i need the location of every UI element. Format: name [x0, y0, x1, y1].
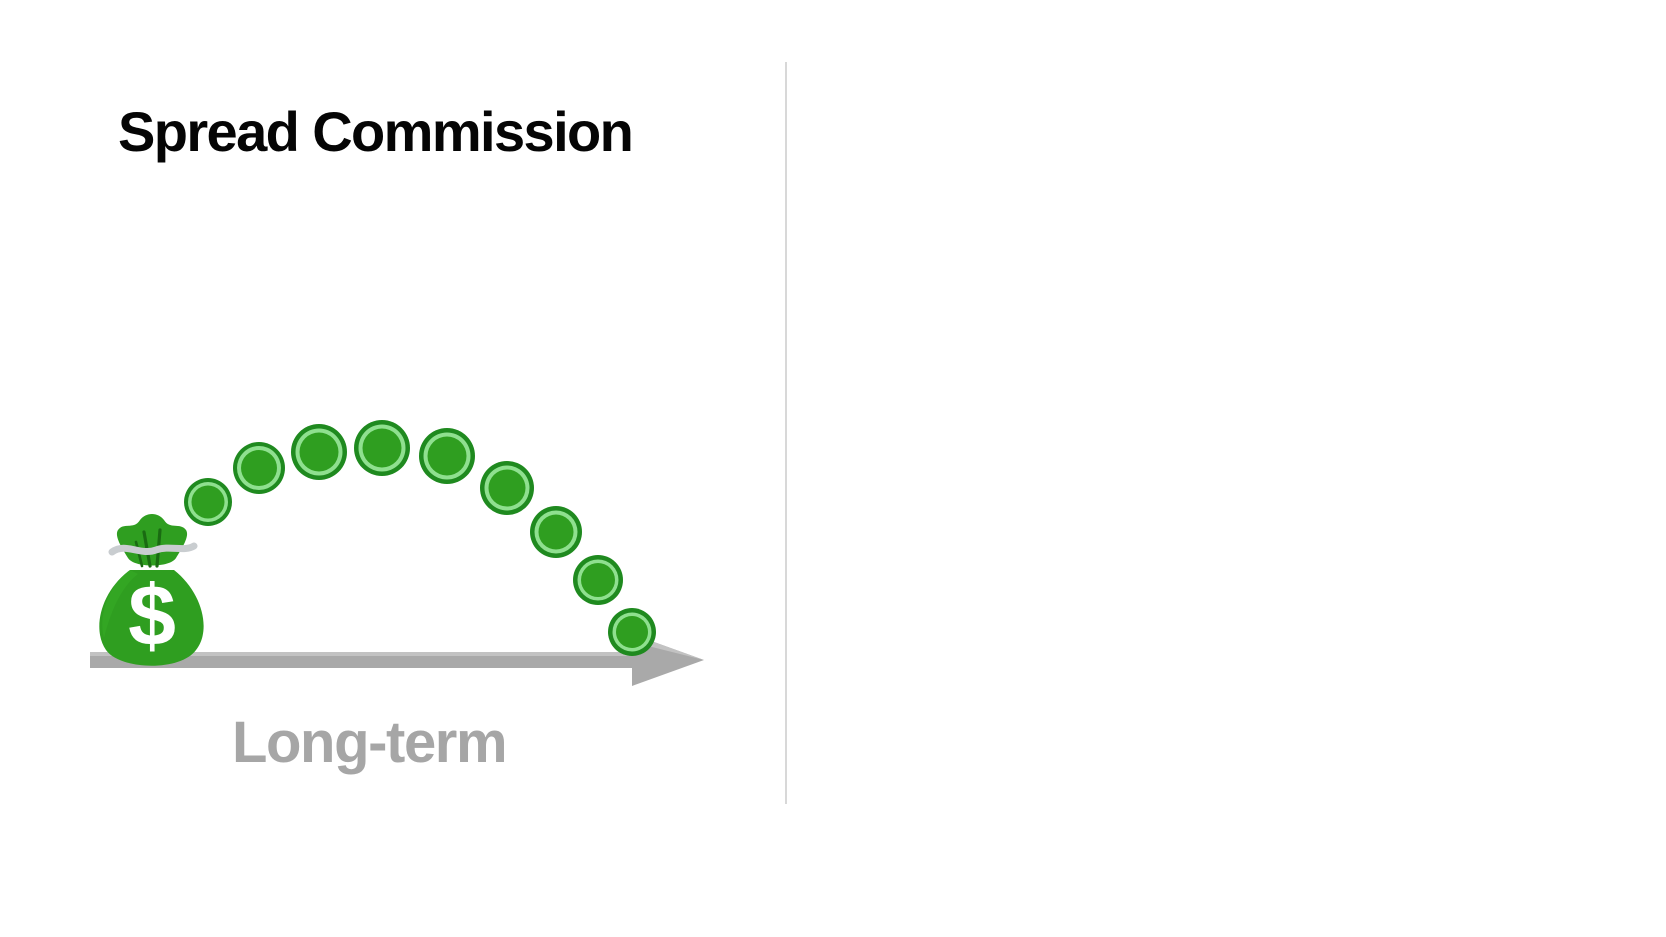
dollar-glyph: $ [128, 568, 176, 664]
money-bag-small-icon: $ [99, 514, 203, 666]
panel-title-spread-commission: Spread Commission [118, 104, 632, 160]
spread-commission-illustration: $ [60, 380, 760, 710]
cpa-illustration: $ [1646, 200, 1666, 710]
panel-spread-commission: Spread Commission [0, 0, 786, 937]
coin-arc-icon [184, 420, 656, 656]
diagram-canvas: Spread Commission [0, 0, 1666, 937]
timeline-label-long-term: Long-term [232, 714, 506, 772]
panel-cpa: CPA $ [786, 0, 1666, 937]
